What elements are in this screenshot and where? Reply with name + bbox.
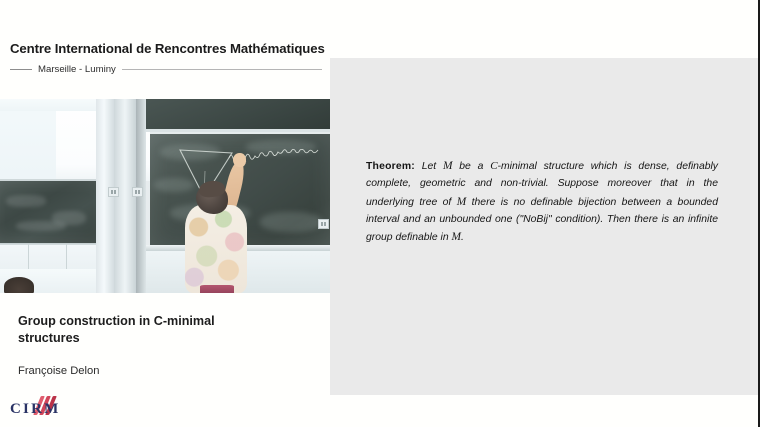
lecturer-torso bbox=[185, 205, 247, 293]
speaker-name: Françoise Delon bbox=[18, 365, 318, 377]
theorem-body-1: Let bbox=[415, 161, 443, 172]
organization-title: Centre International de Rencontres Mathé… bbox=[10, 41, 325, 56]
slide-frame: Centre International de Rencontres Mathé… bbox=[0, 0, 760, 427]
theorem-text: Theorem: Let M be a C-minimal structure … bbox=[366, 157, 718, 247]
wall-outlet-icon bbox=[132, 187, 143, 197]
location-row: Marseille - Luminy bbox=[10, 64, 322, 75]
theorem-body-5: . bbox=[461, 232, 464, 243]
blackboard-left bbox=[0, 179, 104, 245]
theorem-label: Theorem: bbox=[366, 161, 415, 172]
slide-title-block: Group construction in C-minimal structur… bbox=[18, 313, 318, 377]
lecture-video[interactable] bbox=[0, 99, 330, 293]
rule-right bbox=[122, 69, 322, 70]
theorem-body-2: be a bbox=[452, 161, 490, 172]
talk-title: Group construction in C-minimal structur… bbox=[18, 313, 233, 346]
lecturer-hand bbox=[233, 153, 246, 167]
theorem-panel: Theorem: Let M be a C-minimal structure … bbox=[330, 58, 758, 395]
symbol-m: M bbox=[457, 196, 467, 208]
wall-outlet-icon bbox=[108, 187, 119, 197]
audience-head bbox=[4, 277, 34, 293]
symbol-c: C bbox=[490, 160, 497, 172]
location-label: Marseille - Luminy bbox=[38, 64, 116, 75]
logo-text: CIRM bbox=[10, 401, 60, 418]
wall-outlet-icon bbox=[318, 219, 329, 229]
cirm-logo[interactable]: CIRM bbox=[10, 396, 72, 420]
blackboard-upper-panel bbox=[146, 99, 330, 132]
slide-header: Centre International de Rencontres Mathé… bbox=[0, 0, 330, 86]
lecturer-skirt bbox=[200, 285, 234, 293]
symbol-m: M bbox=[452, 231, 462, 243]
rule-left bbox=[10, 69, 32, 70]
